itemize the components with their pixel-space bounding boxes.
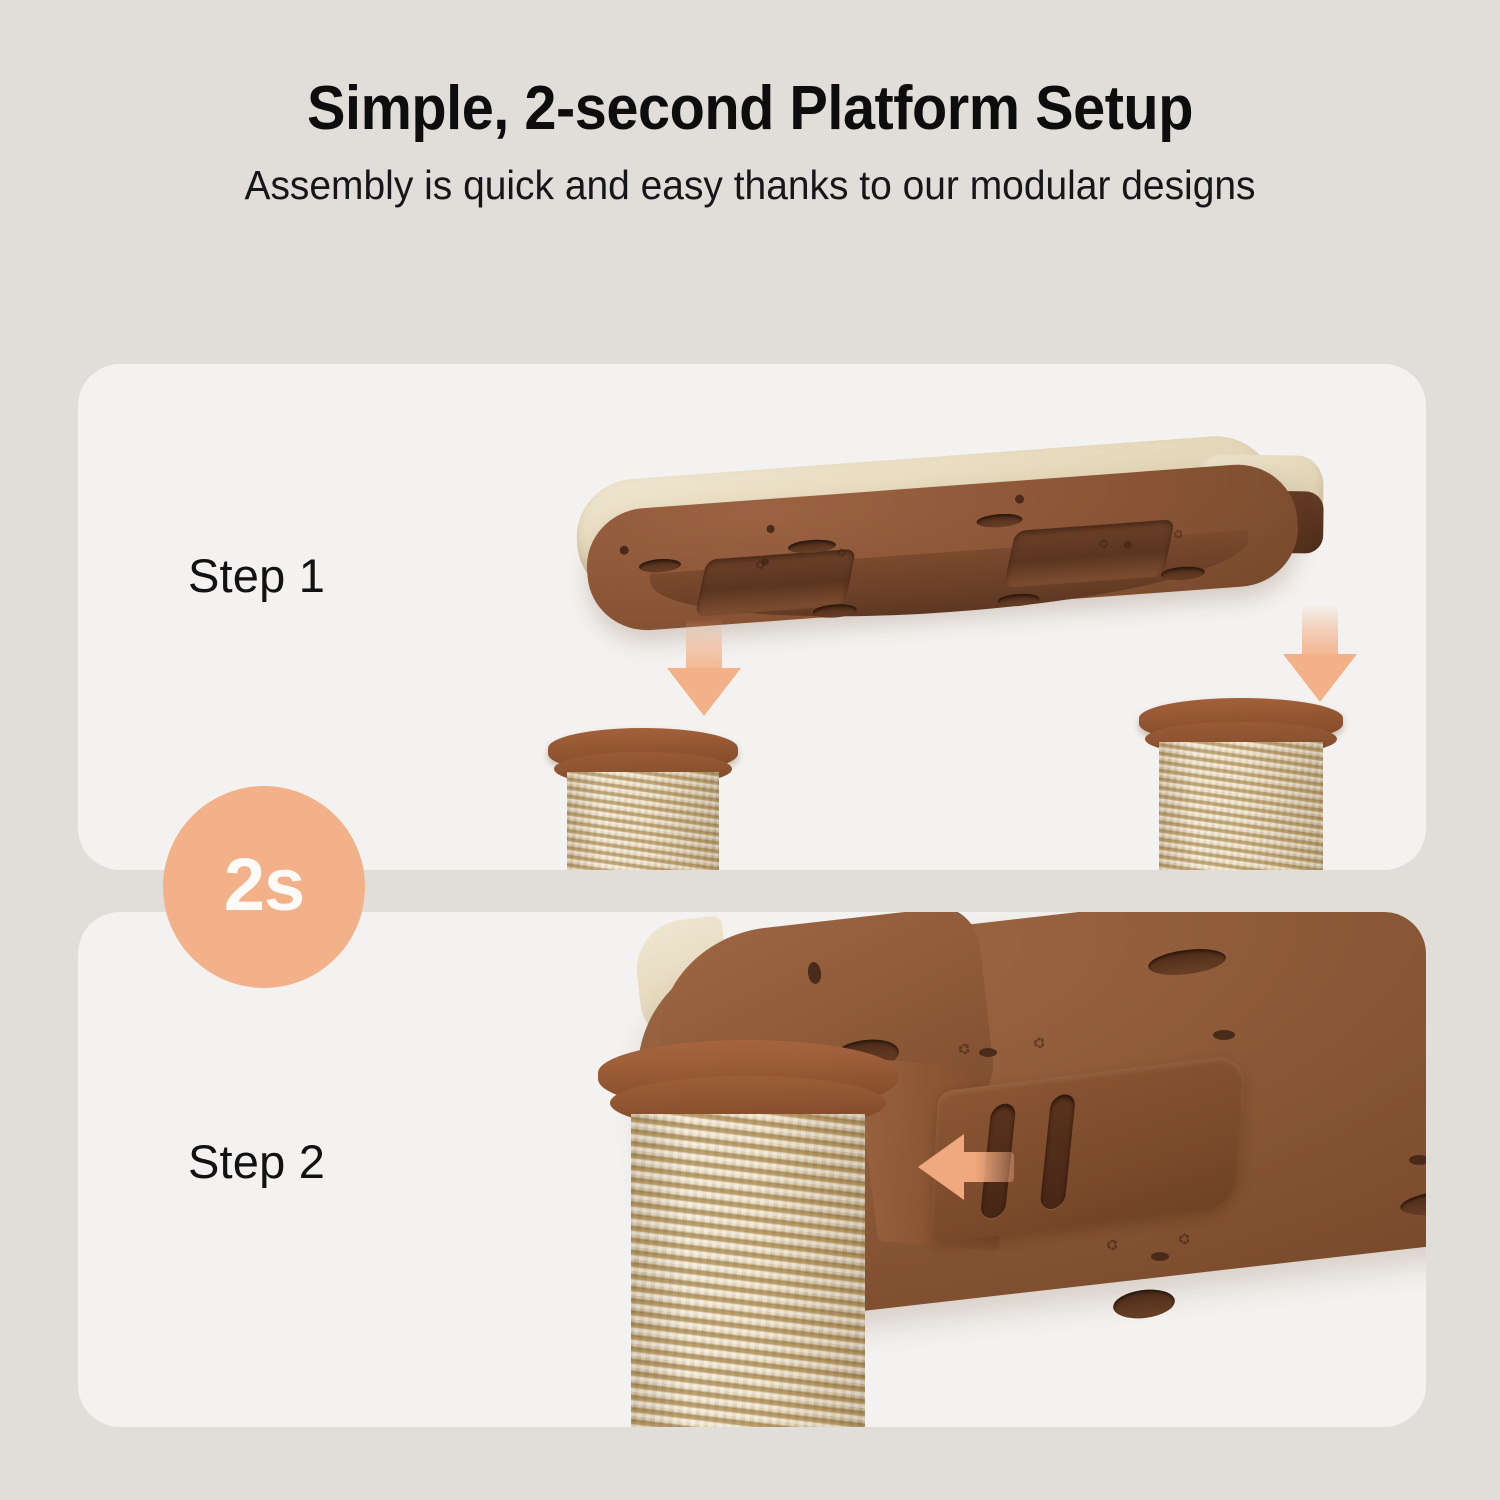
locking-slot	[1039, 1093, 1076, 1210]
arrow-down-icon-right	[1283, 604, 1357, 704]
scratching-post-right	[1139, 698, 1343, 870]
duration-badge-label: 2s	[224, 848, 304, 922]
arrow-head	[667, 668, 741, 716]
post-sisal-rope	[631, 1114, 865, 1427]
arrow-left-icon	[918, 1134, 1014, 1200]
step-1-label: Step 1	[188, 548, 325, 603]
arrow-head	[1283, 654, 1357, 702]
duration-badge: 2s	[163, 786, 365, 988]
recycle-emboss-icon: ♻	[1030, 1035, 1049, 1050]
platform-pin-hole	[1409, 1155, 1426, 1165]
page-subtitle: Assembly is quick and easy thanks to our…	[38, 141, 1463, 208]
header: Simple, 2-second Platform Setup Assembly…	[0, 0, 1500, 208]
post-sisal-rope	[567, 772, 719, 870]
post-sisal-rope	[1159, 742, 1322, 870]
scratching-post-step2	[598, 1040, 898, 1427]
platform-pin-hole	[979, 1048, 997, 1057]
step-2-label: Step 2	[188, 1134, 325, 1189]
recycle-emboss-icon: ♻	[1175, 1231, 1194, 1246]
recycle-emboss-icon: ♻	[955, 1041, 974, 1056]
recycle-emboss-icon: ♻	[1103, 1237, 1122, 1252]
platform-pin-hole	[1213, 1030, 1235, 1040]
platform-pin-hole	[1151, 1252, 1169, 1261]
arrow-down-icon-left	[667, 618, 741, 718]
step-2-panel: Step 2 ♻ ♻ ♻ ♻ ♻	[78, 912, 1426, 1427]
scratching-post-left	[548, 728, 738, 870]
arrow-shaft	[958, 1152, 1014, 1182]
arrow-head	[918, 1134, 964, 1200]
platform-slot-hole	[1112, 1286, 1177, 1321]
page-title: Simple, 2-second Platform Setup	[53, 0, 1448, 141]
